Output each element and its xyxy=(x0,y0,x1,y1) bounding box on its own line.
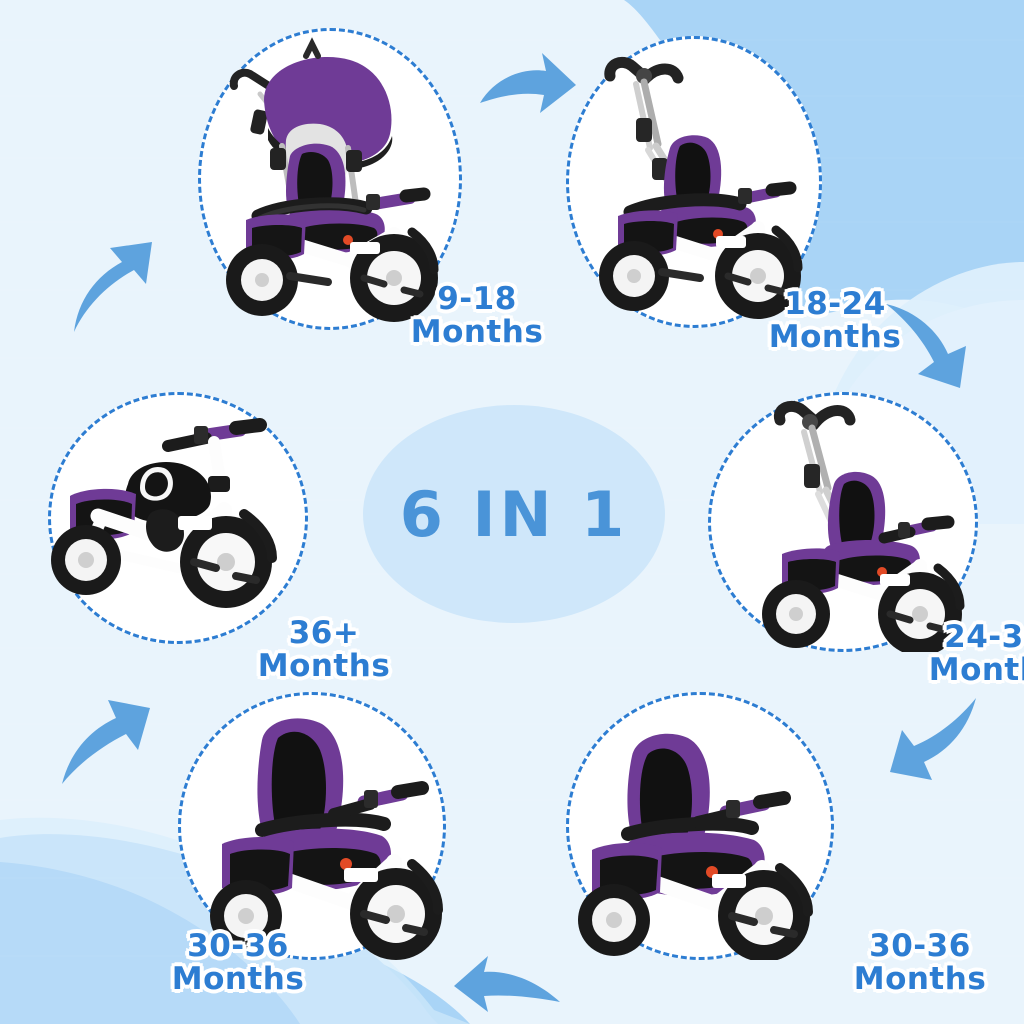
arrow-2-to-3-icon xyxy=(880,292,988,392)
stage-1-label-line2: Months xyxy=(374,316,580,349)
stage-3-product-photo xyxy=(708,392,978,652)
headline-6-in-1: 6 IN 1 xyxy=(363,405,665,623)
stage-2-product-photo xyxy=(566,36,822,328)
arrow-3-to-4-icon xyxy=(880,690,986,790)
stage-3-label-line2: Months xyxy=(880,654,1024,687)
stage-5-label-line1: 30-36 xyxy=(124,930,352,963)
stage-6-label-line2: Months xyxy=(224,650,424,683)
stage-5-label: 30-36 Months xyxy=(124,930,352,996)
arrow-5-to-6-icon xyxy=(52,690,156,790)
stage-1-label-line1: 9-18 xyxy=(374,283,580,316)
stage-6-node[interactable] xyxy=(48,392,308,644)
arrow-4-to-5-icon xyxy=(452,952,566,1022)
stage-3-label-line1: 24-30 xyxy=(880,621,1024,654)
stage-6-product-photo xyxy=(48,392,308,644)
stage-1-label: 9-18 Months xyxy=(374,283,580,349)
stage-4-label: 30-36 Months xyxy=(806,930,1024,996)
stage-4-product-photo xyxy=(566,692,834,960)
infographic-canvas: 6 IN 1 xyxy=(0,0,1024,1024)
stage-2-node[interactable] xyxy=(566,36,822,328)
stage-6-label-line1: 36+ xyxy=(224,617,424,650)
stage-3-node[interactable] xyxy=(708,392,978,652)
stage-4-label-line1: 30-36 xyxy=(806,930,1024,963)
arrow-1-to-2-icon xyxy=(472,45,582,135)
stage-4-node[interactable] xyxy=(566,692,834,960)
stage-5-product-photo xyxy=(178,692,446,960)
arrow-6-to-1-icon xyxy=(62,232,168,338)
stage-6-label: 36+ Months xyxy=(224,617,424,683)
stage-3-label: 24-30 Months xyxy=(880,621,1024,687)
stage-5-label-line2: Months xyxy=(124,963,352,996)
stage-4-label-line2: Months xyxy=(806,963,1024,996)
stage-5-node[interactable] xyxy=(178,692,446,960)
